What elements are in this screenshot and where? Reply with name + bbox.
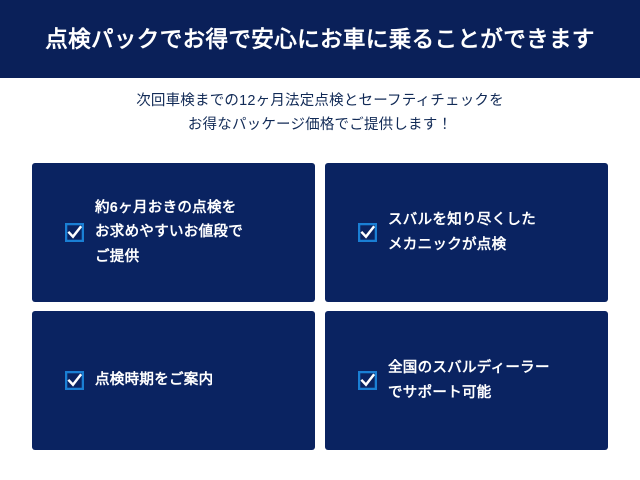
checkbox-checked-icon [358, 223, 377, 242]
checkbox-checked-icon [65, 371, 84, 390]
checkbox-checked-icon [65, 223, 84, 242]
feature-card-1-line-3: ご提供 [95, 245, 243, 269]
subtitle-block: 次回車検までの12ヶ月法定点検とセーフティチェックを お得なパッケージ価格でご提… [0, 90, 640, 138]
promo-page: 点検パックでお得で安心にお車に乗ることができます 次回車検までの12ヶ月法定点検… [0, 0, 640, 480]
feature-card-3-line-1: 点検時期をご案内 [95, 368, 213, 392]
feature-card-1-line-2: お求めやすいお値段で [95, 220, 243, 244]
feature-card-grid: 約6ヶ月おきの点検を お求めやすいお値段で ご提供 スバルを知り尽くした メカニ… [32, 163, 608, 450]
feature-card-4-line-2: でサポート可能 [388, 381, 550, 405]
feature-card-3: 点検時期をご案内 [32, 311, 315, 450]
feature-card-2-line-2: メカニックが点検 [388, 233, 536, 257]
feature-card-4: 全国のスバルディーラー でサポート可能 [325, 311, 608, 450]
subtitle-line-1: 次回車検までの12ヶ月法定点検とセーフティチェックを [0, 90, 640, 114]
feature-card-1: 約6ヶ月おきの点検を お求めやすいお値段で ご提供 [32, 163, 315, 302]
feature-card-4-text: 全国のスバルディーラー でサポート可能 [388, 356, 550, 405]
header-band: 点検パックでお得で安心にお車に乗ることができます [0, 0, 640, 78]
feature-card-2-text: スバルを知り尽くした メカニックが点検 [388, 208, 536, 257]
checkbox-checked-icon [358, 371, 377, 390]
feature-card-1-line-1: 約6ヶ月おきの点検を [95, 196, 243, 220]
page-title: 点検パックでお得で安心にお車に乗ることができます [45, 26, 595, 53]
feature-card-1-text: 約6ヶ月おきの点検を お求めやすいお値段で ご提供 [95, 196, 243, 269]
subtitle-line-2: お得なパッケージ価格でご提供します！ [0, 114, 640, 138]
feature-card-2: スバルを知り尽くした メカニックが点検 [325, 163, 608, 302]
feature-card-4-line-1: 全国のスバルディーラー [388, 356, 550, 380]
feature-card-3-text: 点検時期をご案内 [95, 368, 213, 392]
feature-card-2-line-1: スバルを知り尽くした [388, 208, 536, 232]
